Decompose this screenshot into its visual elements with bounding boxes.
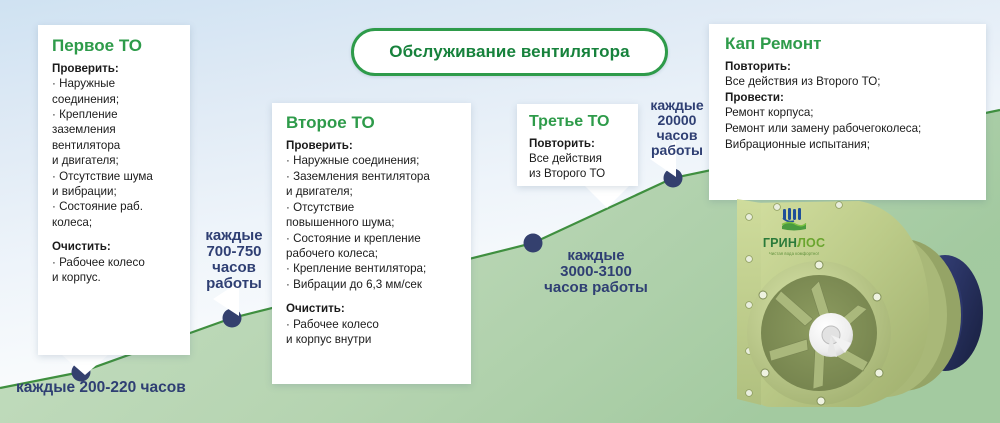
logo-mark-icon <box>779 208 809 232</box>
section-line: · Заземления вентилятора <box>286 169 458 184</box>
spacer <box>286 292 458 301</box>
page-title: Обслуживание вентилятора <box>389 42 629 62</box>
section-label: Проверить: <box>52 61 177 76</box>
bolt-icon <box>746 302 753 309</box>
interval-label-3: каждые 3000-3100 часов работы <box>500 248 692 296</box>
section-line: соединения; <box>52 92 177 107</box>
section-line: и вибрации; <box>52 184 177 199</box>
section-line: Вибрационные испытания; <box>725 137 972 153</box>
section-label: Очистить: <box>286 301 458 316</box>
section-label: Очистить: <box>52 239 177 254</box>
main-title-banner: Обслуживание вентилятора <box>351 28 668 76</box>
card-heading: Второе ТО <box>286 114 458 133</box>
section-line: · Рабочее колесо <box>286 317 458 332</box>
greenlos-logo: ГРИНЛОС Чистая вода комфортно! <box>754 208 834 264</box>
card-heading: Первое ТО <box>52 37 177 56</box>
section-line: Ремонт или замену рабочегоколеса; <box>725 121 972 137</box>
section-label: Проверить: <box>286 138 458 153</box>
section-line: рабочего колеса; <box>286 246 458 261</box>
section-line: повышенного шума; <box>286 215 458 230</box>
section-line: Ремонт корпуса; <box>725 105 972 121</box>
maintenance-card-first: Первое ТО Проверить: · Наружные соединен… <box>38 25 190 355</box>
section-line: · Рабочее колесо <box>52 255 177 270</box>
spacer <box>52 230 177 239</box>
card-heading: Кап Ремонт <box>725 35 972 54</box>
card-body: Проверить: · Наружные соединения; · Креп… <box>52 61 177 286</box>
bolt-icon <box>873 293 881 301</box>
card-body: Повторить: Все действия из Второго ТО; П… <box>725 59 972 152</box>
logo-name-light: ЛОС <box>797 236 825 250</box>
section-line: колеса; <box>52 215 177 230</box>
bolt-icon <box>761 369 769 377</box>
section-line: · Состояние и крепление <box>286 231 458 246</box>
bolt-icon <box>836 202 843 209</box>
logo-wordmark: ГРИНЛОС <box>754 237 834 250</box>
interval-label-1: каждые 200-220 часов <box>16 380 186 397</box>
section-line: и двигателя; <box>286 184 458 199</box>
card-pointer-3 <box>585 186 629 208</box>
section-line: и корпус. <box>52 270 177 285</box>
card-body: Повторить: Все действия из Второго ТО <box>529 136 628 182</box>
section-label: Повторить: <box>725 59 972 75</box>
section-line: · Отсутствие шума <box>52 169 177 184</box>
section-label: Провести: <box>725 90 972 106</box>
section-line: · Состояние раб. <box>52 199 177 214</box>
bolt-icon <box>746 390 753 397</box>
card-heading: Третье ТО <box>529 113 628 131</box>
bolt-icon <box>875 369 883 377</box>
bolt-icon <box>746 256 753 263</box>
section-label: Повторить: <box>529 136 628 151</box>
maintenance-card-overhaul: Кап Ремонт Повторить: Все действия из Вт… <box>709 24 986 200</box>
section-line: вентилятора <box>52 138 177 153</box>
interval-label-2: каждые 700-750 часов работы <box>186 228 282 292</box>
bolt-icon <box>759 291 767 299</box>
section-line: · Крепление вентилятора; <box>286 261 458 276</box>
section-line: · Наружные соединения; <box>286 153 458 168</box>
bolt-icon <box>817 397 825 405</box>
section-line: · Вибрации до 6,3 мм/сек <box>286 277 458 292</box>
maintenance-card-third: Третье ТО Повторить: Все действия из Вто… <box>517 104 638 186</box>
section-line: · Крепление <box>52 107 177 122</box>
bolt-icon <box>746 214 753 221</box>
card-body: Проверить: · Наружные соединения; · Зазе… <box>286 138 458 348</box>
section-line: и двигателя; <box>52 153 177 168</box>
logo-tagline: Чистая вода комфортно! <box>754 251 834 256</box>
section-line: и корпус внутри <box>286 332 458 347</box>
interval-label-4: каждые 20000 часов работы <box>627 98 727 158</box>
section-line: · Отсутствие <box>286 200 458 215</box>
maintenance-card-second: Второе ТО Проверить: · Наружные соединен… <box>272 103 471 384</box>
section-line: из Второго ТО <box>529 166 628 181</box>
section-line: · Наружные <box>52 76 177 91</box>
logo-name-dark: ГРИН <box>763 236 797 250</box>
section-line: заземления <box>52 122 177 137</box>
card-pointer-1 <box>62 355 108 375</box>
infographic-canvas: Обслуживание вентилятора Первое ТО Прове… <box>0 0 1000 423</box>
section-line: Все действия из Второго ТО; <box>725 74 972 90</box>
section-line: Все действия <box>529 151 628 166</box>
